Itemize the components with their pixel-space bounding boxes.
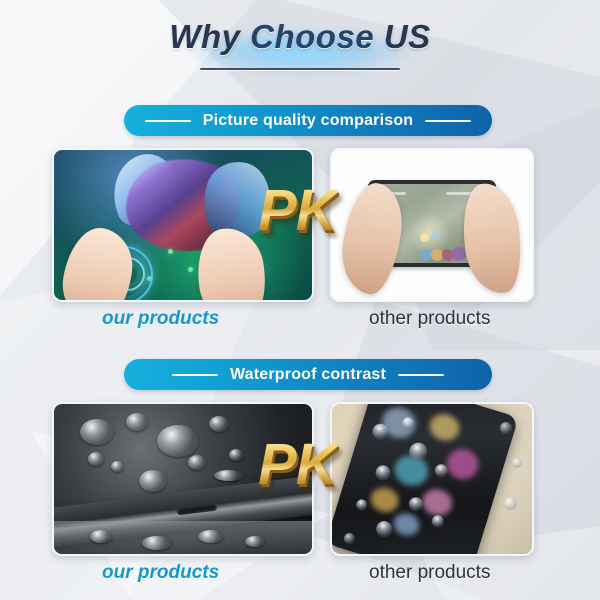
section-banner-waterproof: Waterproof contrast	[124, 359, 492, 390]
other-product-caption: other products	[369, 308, 490, 330]
page-title-part1: Why	[169, 18, 250, 55]
water-droplet	[344, 533, 355, 544]
page-title-part2: Choose	[250, 18, 374, 55]
color-blob	[443, 445, 482, 483]
water-droplet	[245, 536, 265, 547]
page-title: Why Choose US	[169, 18, 430, 56]
water-droplet	[111, 461, 124, 472]
other-product-image-waterproof	[330, 402, 534, 556]
water-droplet	[90, 530, 112, 543]
other-product-caption: other products	[369, 562, 490, 584]
dull-game-scene	[332, 150, 532, 300]
water-droplet	[430, 514, 445, 529]
water-droplet	[126, 413, 148, 431]
water-droplet	[214, 470, 244, 481]
pk-badge: PK	[258, 436, 337, 494]
game-spark	[168, 249, 173, 254]
banner-dash-right	[398, 374, 444, 376]
game-spark	[188, 267, 193, 272]
page-title-wrap: Why Choose US	[0, 18, 600, 56]
section-banner-label: Picture quality comparison	[203, 112, 414, 130]
water-droplet	[504, 497, 517, 510]
other-product-image-picture-quality	[330, 148, 534, 302]
water-droplet	[209, 416, 229, 432]
water-droplet	[142, 536, 172, 550]
color-blob	[427, 410, 463, 444]
water-droplet	[373, 463, 392, 482]
our-product-caption: our products	[102, 308, 219, 330]
our-product-caption: our products	[102, 562, 219, 584]
water-droplet	[139, 470, 167, 492]
water-droplet	[500, 422, 512, 434]
game-hud-dot	[420, 233, 429, 242]
section-banner-label: Waterproof contrast	[230, 366, 386, 384]
water-droplet	[88, 452, 104, 466]
banner-dash-left	[172, 374, 218, 376]
banner-dash-left	[145, 120, 191, 122]
water-droplet	[188, 455, 206, 470]
game-hud-dot	[432, 231, 440, 239]
comparison-row-waterproof: PK	[0, 402, 600, 552]
game-hud-dot	[431, 249, 443, 261]
infographic-page: Why Choose US Picture quality comparison	[0, 0, 600, 600]
color-blob	[391, 510, 422, 539]
section-banner-picture-quality: Picture quality comparison	[124, 105, 492, 136]
title-underline	[200, 68, 400, 70]
banner-dash-right	[425, 120, 471, 122]
water-droplet	[157, 425, 199, 457]
wet-phone-smeared	[332, 404, 532, 554]
water-droplet	[355, 498, 369, 512]
water-droplet	[80, 419, 114, 445]
left-hand	[57, 223, 138, 302]
color-blob	[367, 484, 401, 515]
water-droplet	[512, 458, 522, 468]
comparison-row-picture-quality: PK	[0, 148, 600, 298]
page-title-part3: US	[374, 18, 431, 55]
phone-port	[176, 504, 217, 515]
pk-badge: PK	[258, 182, 337, 240]
water-droplet	[229, 449, 243, 461]
water-droplet	[375, 519, 395, 539]
